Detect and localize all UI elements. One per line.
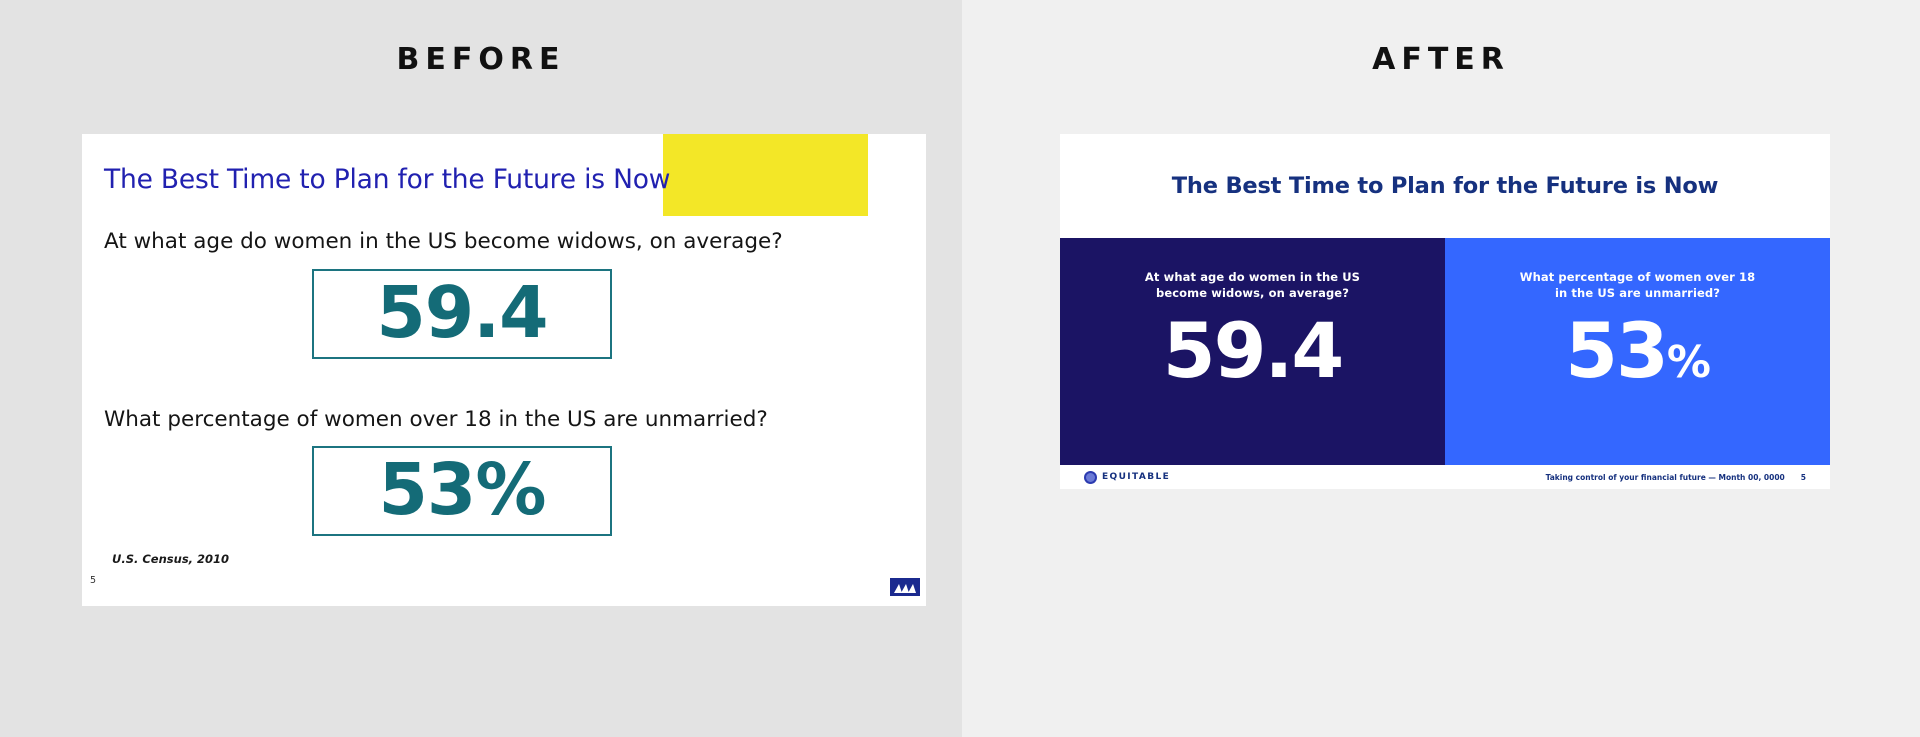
equitable-mark-icon xyxy=(1084,471,1097,484)
after-question-2-line-2: in the US are unmarried? xyxy=(1520,286,1755,302)
after-question-2: What percentage of women over 18 in the … xyxy=(1520,270,1755,301)
after-question-1: At what age do women in the US become wi… xyxy=(1145,270,1360,301)
before-stat-box-1: 59.4 xyxy=(312,269,612,359)
after-panel: AFTER The Best Time to Plan for the Futu… xyxy=(962,0,1920,737)
before-page-number: 5 xyxy=(90,575,96,586)
after-stat-column-1: At what age do women in the US become wi… xyxy=(1060,238,1445,465)
equitable-logo: EQUITABLE xyxy=(1084,471,1170,484)
equitable-wordmark: EQUITABLE xyxy=(1102,472,1170,482)
after-stat-number-2: 53 xyxy=(1565,313,1667,389)
after-question-2-line-1: What percentage of women over 18 xyxy=(1520,270,1755,286)
after-panel-heading: AFTER xyxy=(962,42,1920,77)
before-stat-value-1: 59.4 xyxy=(376,277,547,348)
after-stat-value-1: 59.4 xyxy=(1163,313,1343,389)
after-stat-column-2: What percentage of women over 18 in the … xyxy=(1445,238,1830,465)
before-slide: The Best Time to Plan for the Future is … xyxy=(82,134,926,606)
before-stat-value-2: 53% xyxy=(379,454,546,525)
after-stat-columns: At what age do women in the US become wi… xyxy=(1060,238,1830,465)
comparison-stage: BEFORE The Best Time to Plan for the Fut… xyxy=(0,0,1920,737)
after-stat-number-1: 59.4 xyxy=(1163,313,1343,389)
yellow-accent-block xyxy=(663,134,868,216)
after-footer-right: Taking control of your financial future … xyxy=(1546,473,1806,482)
after-question-1-line-1: At what age do women in the US xyxy=(1145,270,1360,286)
before-question-1: At what age do women in the US become wi… xyxy=(104,229,783,254)
after-stat-value-2: 53 % xyxy=(1565,313,1710,389)
after-footer-caption: Taking control of your financial future … xyxy=(1546,473,1785,482)
before-source-citation: U.S. Census, 2010 xyxy=(112,552,229,566)
after-page-number: 5 xyxy=(1801,473,1806,482)
before-panel-heading: BEFORE xyxy=(0,42,962,77)
before-panel: BEFORE The Best Time to Plan for the Fut… xyxy=(0,0,962,737)
after-slide-title: The Best Time to Plan for the Future is … xyxy=(1060,134,1830,238)
before-slide-title: The Best Time to Plan for the Future is … xyxy=(104,164,670,195)
after-stat-suffix-2: % xyxy=(1667,341,1710,385)
before-question-2: What percentage of women over 18 in the … xyxy=(104,407,768,432)
after-slide: The Best Time to Plan for the Future is … xyxy=(1060,134,1830,489)
axa-logo-icon xyxy=(890,578,920,596)
before-stat-box-2: 53% xyxy=(312,446,612,536)
after-question-1-line-2: become widows, on average? xyxy=(1145,286,1360,302)
after-slide-footer: EQUITABLE Taking control of your financi… xyxy=(1060,465,1830,489)
